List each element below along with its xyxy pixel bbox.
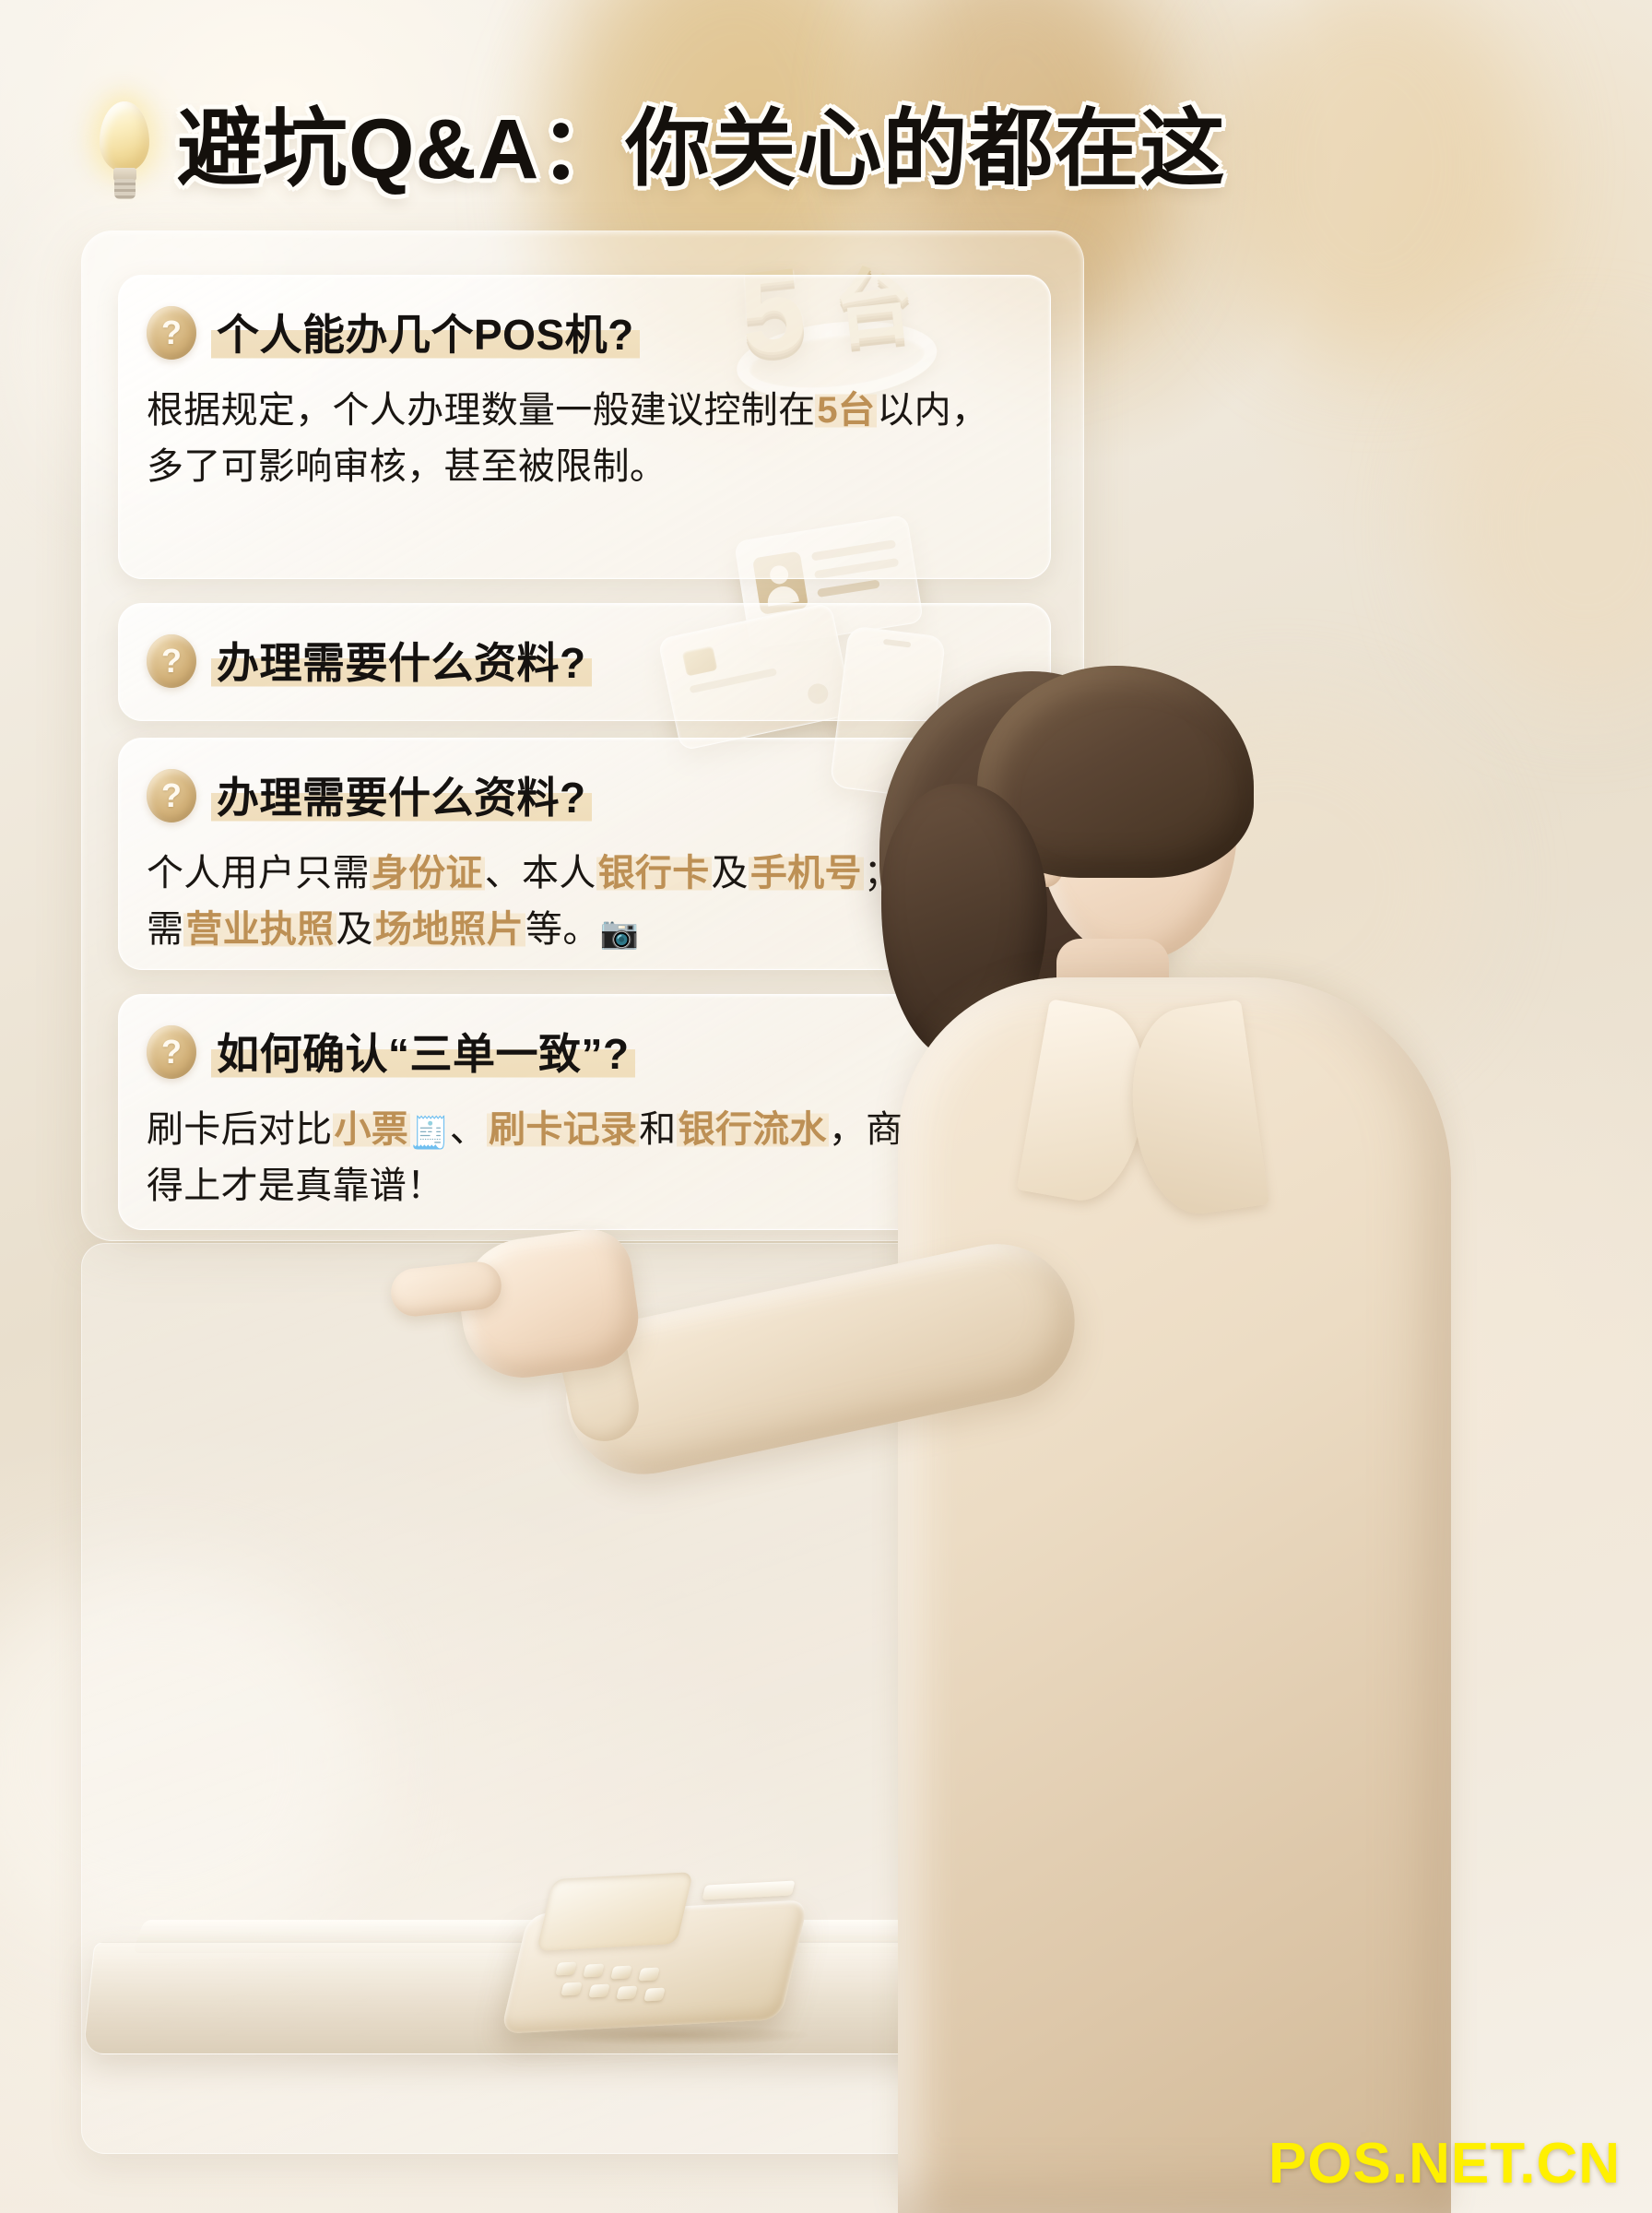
site-watermark: POS.NET.CN [1268, 2136, 1621, 2193]
highlighted-term: 营业执照 [183, 909, 336, 950]
question-badge-icon: ? [147, 769, 196, 822]
answer-fragment: 及 [712, 853, 749, 893]
question-row: ? 个人能办几个POS机? [147, 300, 1022, 366]
terminal-shadow [529, 2025, 809, 2045]
highlighted-term: 银行流水 [677, 1109, 829, 1150]
pos-terminal-3d [516, 1866, 820, 2041]
answer-fragment: 、本人 [485, 853, 596, 893]
answer-fragment: 根据规定，个人办理数量一般建议控制在 [147, 390, 815, 431]
answer-fragment: 等。 [525, 909, 600, 950]
person-3d-figure [857, 645, 1652, 2213]
bokeh-blob [1217, 0, 1530, 360]
inline-emoji-icon: 📷 [600, 916, 640, 951]
question-text: 个人能办几个POS机? [211, 300, 640, 366]
highlighted-term: 身份证 [370, 853, 485, 893]
answer-fragment: 和 [639, 1109, 676, 1150]
answer-fragment: 刷卡后对比 [147, 1109, 333, 1150]
question-text: 办理需要什么资料? [211, 628, 592, 694]
inline-emoji-icon: 🧾 [410, 1116, 450, 1151]
highlighted-term: 银行卡 [596, 853, 712, 893]
answer-fragment: 及 [336, 909, 373, 950]
page-title: 避坑Q&A：你关心的都在这 [177, 107, 1225, 192]
lightbulb-icon [88, 98, 160, 201]
question-text: 如何确认“三单一致”? [211, 1019, 635, 1085]
highlighted-term: 5台 [815, 390, 877, 431]
question-badge-icon: ? [147, 306, 196, 360]
highlighted-term: 小票 [333, 1109, 411, 1150]
terminal-screen [537, 1872, 693, 1951]
terminal-receipt-slot [702, 1880, 795, 1899]
answer-fragment: 、 [450, 1109, 487, 1150]
highlighted-term: 手机号 [749, 853, 864, 893]
answer-fragment: 个人用户只需 [147, 853, 370, 893]
question-badge-icon: ? [147, 1025, 196, 1079]
question-badge-icon: ? [147, 634, 196, 688]
page-header: 避坑Q&A：你关心的都在这 [88, 89, 1176, 210]
highlighted-term: 刷卡记录 [487, 1109, 639, 1150]
highlighted-term: 场地照片 [373, 909, 525, 950]
answer-text: 根据规定，个人办理数量一般建议控制在5台以内，多了可影响审核，甚至被限制。 [147, 383, 1022, 495]
question-text: 办理需要什么资料? [211, 763, 592, 829]
qa-card[interactable]: ? 个人能办几个POS机? 根据规定，个人办理数量一般建议控制在5台以内，多了可… [118, 275, 1051, 579]
